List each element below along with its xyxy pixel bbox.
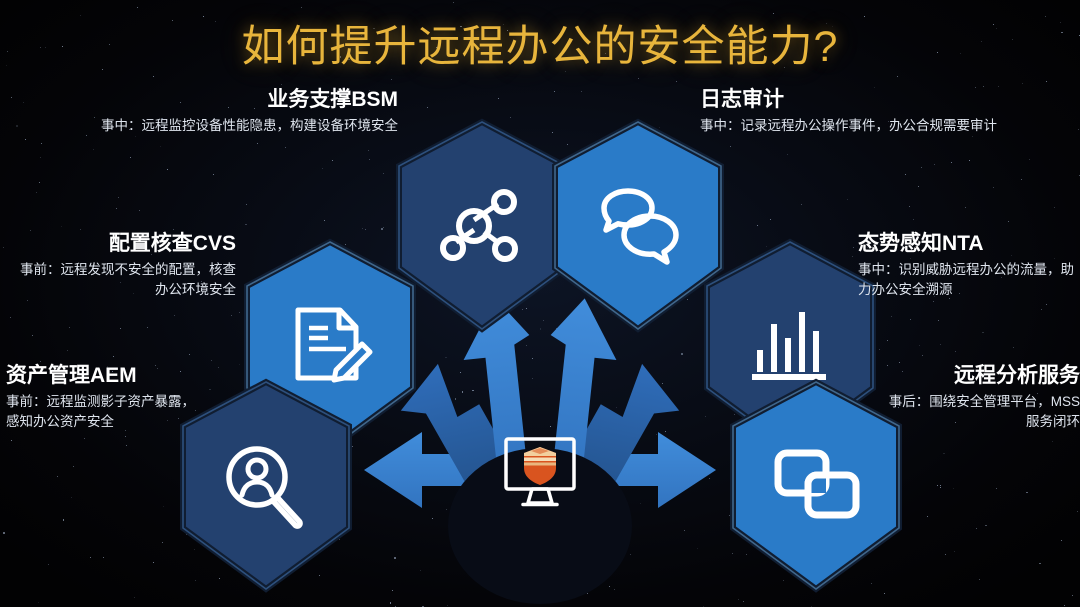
label-desc-aem: 事前：远程监测影子资产暴露，感知办公资产安全 [6,392,206,433]
label-title-bsm: 业务支撑BSM [92,88,398,112]
label-title-log: 日志审计 [700,88,1030,112]
label-title-rps: 远程分析服务 [884,364,1080,388]
label-nta: 态势感知NTA 事中：识别威胁远程办公的流量，助力办公安全溯源 [858,232,1080,301]
page-title: 如何提升远程办公的安全能力? [0,12,1080,74]
label-desc-log: 事中：记录远程办公操作事件，办公合规需要审计 [700,116,1030,136]
label-rps: 远程分析服务 事后：围绕安全管理平台，MSS服务闭环 [884,364,1080,433]
label-aem: 资产管理AEM 事前：远程监测影子资产暴露，感知办公资产安全 [6,364,206,433]
label-log: 日志审计 事中：记录远程办公操作事件，办公合规需要审计 [700,88,1030,136]
center-monitor-icon [501,437,579,509]
label-desc-nta: 事中：识别威胁远程办公的流量，助力办公安全溯源 [858,260,1080,301]
label-title-nta: 态势感知NTA [858,232,1080,256]
monitor-stand-icon [528,489,552,503]
hex-tile-rps[interactable] [726,378,906,593]
label-desc-rps: 事后：围绕安全管理平台，MSS服务闭环 [884,392,1080,433]
label-cvs: 配置核查CVS 事前：远程发现不安全的配置，核查办公环境安全 [8,232,236,301]
shield-icon [524,447,556,485]
label-title-aem: 资产管理AEM [6,364,206,388]
label-desc-bsm: 事中：远程监控设备性能隐患，构建设备环境安全 [92,116,398,136]
infographic-slide: 如何提升远程办公的安全能力? [0,0,1080,607]
label-title-cvs: 配置核查CVS [8,232,236,256]
label-bsm: 业务支撑BSM 事中：远程监控设备性能隐患，构建设备环境安全 [92,88,398,136]
label-desc-cvs: 事前：远程发现不安全的配置，核查办公环境安全 [8,260,236,301]
